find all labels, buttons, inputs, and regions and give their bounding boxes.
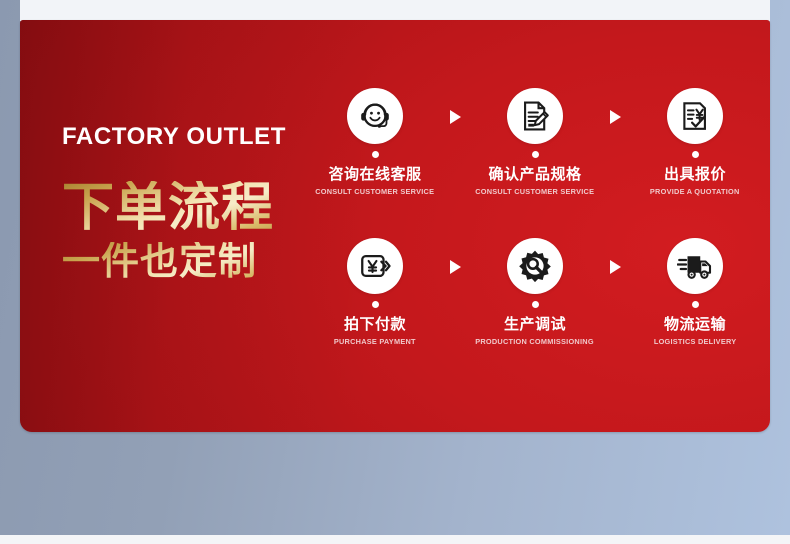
step-provide-quotation[interactable]: 出具报价 PROVIDE A QUOTATION — [630, 88, 760, 196]
headline-chinese-sub: 一件也定制 — [62, 242, 312, 284]
step-label-cn: 咨询在线客服 — [328, 167, 421, 182]
steps-container: 咨询在线客服 CONSULT CUSTOMER SERVICE — [310, 88, 760, 345]
headline-chinese-main: 下单流程 — [62, 181, 312, 236]
step-label-en: PURCHASE PAYMENT — [334, 338, 416, 346]
step-purchase-payment[interactable]: 拍下付款 PURCHASE PAYMENT — [310, 238, 440, 346]
step-label-cn: 生产调试 — [504, 317, 566, 332]
step-arrow-1 — [440, 88, 470, 124]
step-arrow-4 — [600, 238, 630, 274]
step-icon-circle — [507, 238, 563, 294]
step-label-en: CONSULT CUSTOMER SERVICE — [475, 188, 594, 196]
delivery-truck-icon — [677, 248, 713, 284]
headline-english: FACTORY OUTLET — [62, 125, 312, 149]
step-label-en: LOGISTICS DELIVERY — [654, 338, 737, 346]
step-label-cn: 确认产品规格 — [488, 167, 581, 182]
step-icon-circle — [667, 238, 723, 294]
play-triangle-icon — [450, 260, 461, 274]
step-production-commissioning[interactable]: 生产调试 PRODUCTION COMMISSIONING — [470, 238, 600, 346]
page-root: FACTORY OUTLET 下单流程 一件也定制 — [0, 0, 790, 544]
step-arrow-3 — [440, 238, 470, 274]
play-triangle-icon — [610, 110, 621, 124]
step-icon-circle — [347, 88, 403, 144]
step-connector-dot — [372, 151, 379, 158]
step-logistics-delivery[interactable]: 物流运输 LOGISTICS DELIVERY — [630, 238, 760, 346]
step-arrow-2 — [600, 88, 630, 124]
step-connector-dot — [532, 301, 539, 308]
document-pen-icon — [518, 99, 552, 133]
step-row-2: 拍下付款 PURCHASE PAYMENT — [310, 238, 760, 346]
quotation-yuan-check-icon — [678, 99, 712, 133]
step-confirm-product-spec[interactable]: 确认产品规格 CONSULT CUSTOMER SERVICE — [470, 88, 600, 196]
step-icon-circle — [507, 88, 563, 144]
step-consult-customer-service[interactable]: 咨询在线客服 CONSULT CUSTOMER SERVICE — [310, 88, 440, 196]
step-icon-circle — [667, 88, 723, 144]
top-white-band — [20, 0, 770, 21]
step-label-cn: 拍下付款 — [344, 317, 406, 332]
play-triangle-icon — [610, 260, 621, 274]
step-icon-circle — [347, 238, 403, 294]
step-label-cn: 物流运输 — [664, 317, 726, 332]
headline-block: FACTORY OUTLET 下单流程 一件也定制 — [62, 125, 312, 283]
step-connector-dot — [532, 151, 539, 158]
bottom-white-band — [0, 535, 790, 544]
step-connector-dot — [692, 301, 699, 308]
yuan-payment-icon — [358, 249, 392, 283]
step-connector-dot — [692, 151, 699, 158]
play-triangle-icon — [450, 110, 461, 124]
step-connector-dot — [372, 301, 379, 308]
step-label-en: PROVIDE A QUOTATION — [650, 188, 740, 196]
headset-smiley-icon — [358, 99, 392, 133]
order-process-banner: FACTORY OUTLET 下单流程 一件也定制 — [20, 20, 770, 432]
step-label-en: PRODUCTION COMMISSIONING — [476, 338, 595, 346]
step-row-1: 咨询在线客服 CONSULT CUSTOMER SERVICE — [310, 88, 760, 196]
step-label-en: CONSULT CUSTOMER SERVICE — [315, 188, 434, 196]
step-label-cn: 出具报价 — [664, 167, 726, 182]
gear-wrench-icon — [517, 248, 553, 284]
